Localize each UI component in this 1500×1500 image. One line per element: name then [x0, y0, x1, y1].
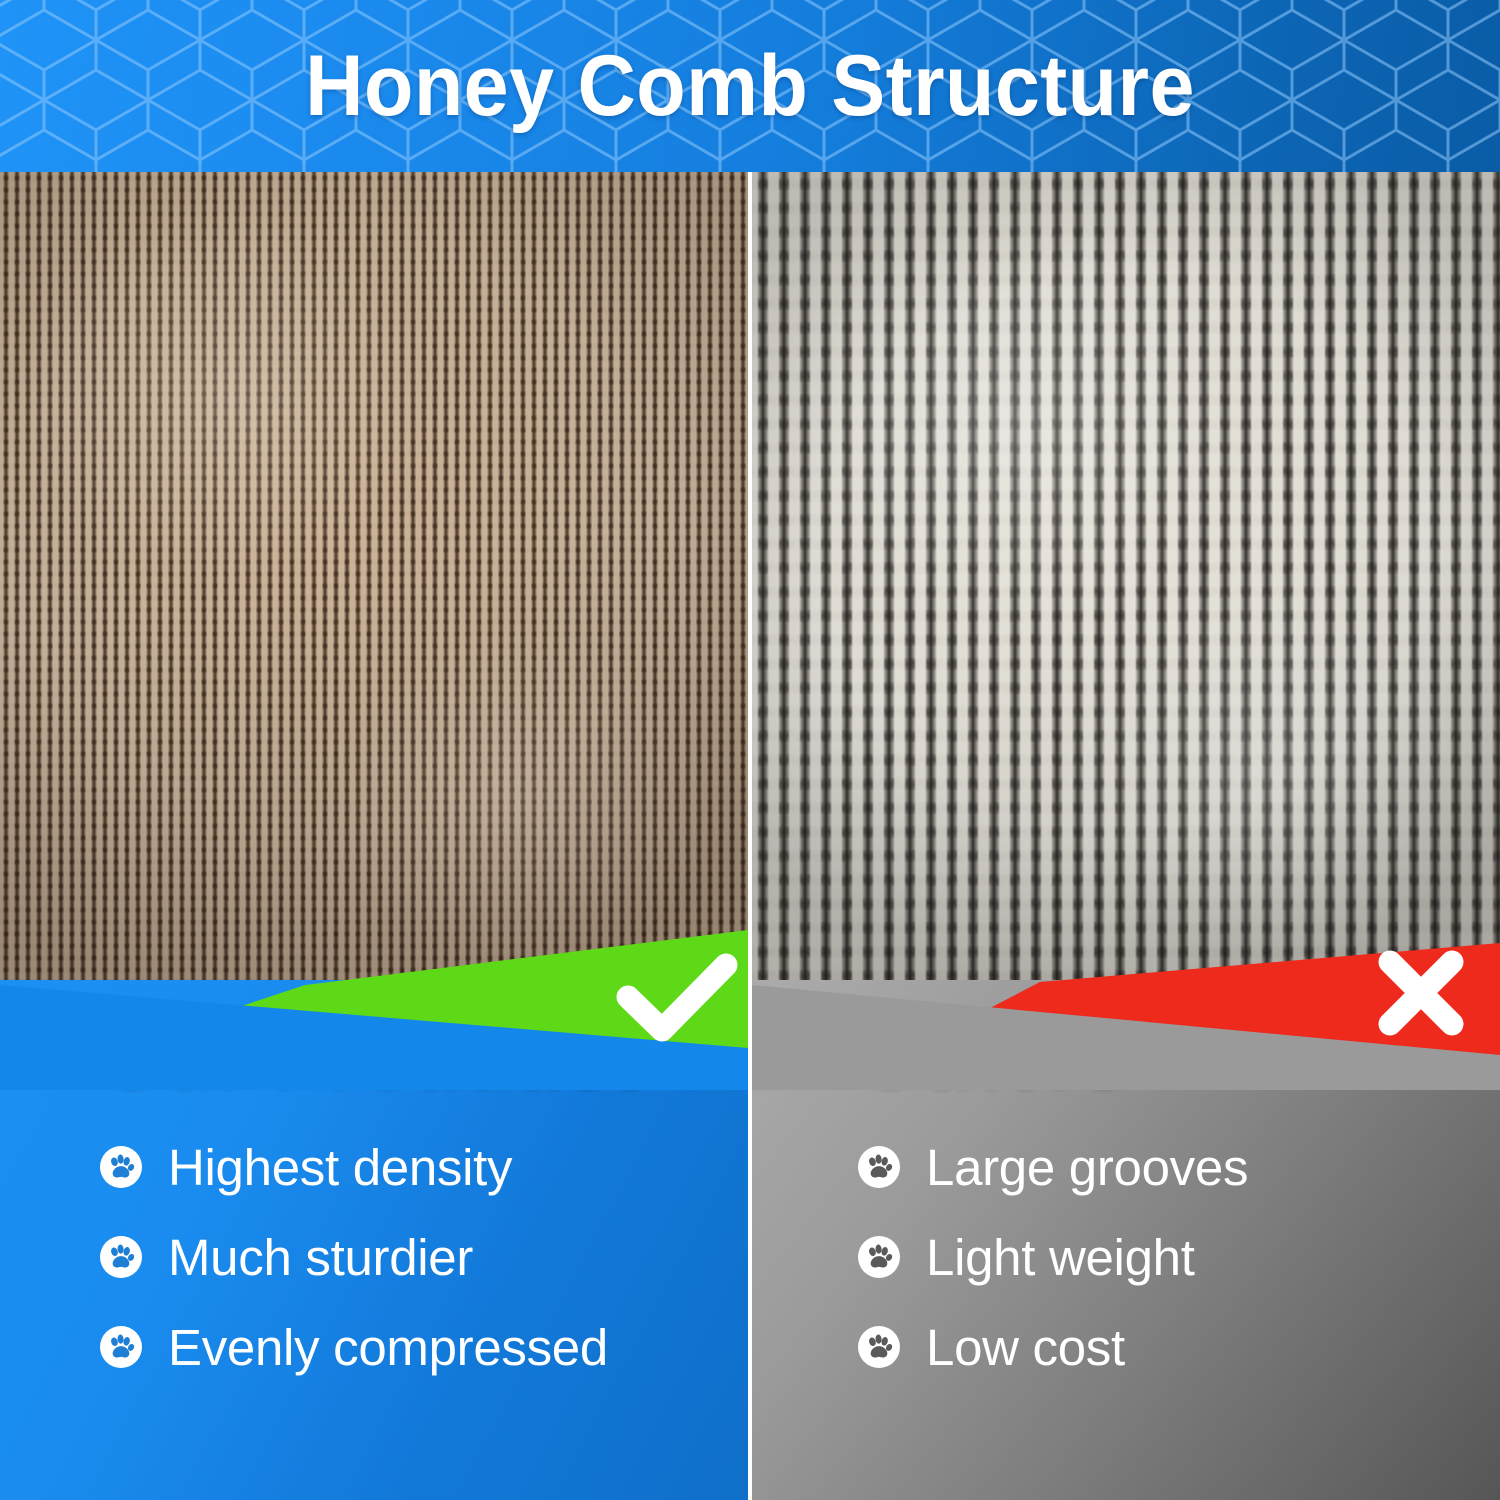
paw-print-icon [858, 1236, 900, 1278]
feature-label: Low cost [926, 1322, 1125, 1373]
feature-label: Much sturdier [168, 1232, 473, 1283]
others-title: Others [858, 1014, 1127, 1102]
feature-label: Light weight [926, 1232, 1195, 1283]
vertical-divider [748, 172, 752, 1072]
header-banner: Honey Comb Structure [0, 0, 1500, 172]
our-product-title: Our Prouduct [100, 1014, 639, 1102]
paw-print-icon [100, 1236, 142, 1278]
others-photo [752, 172, 1500, 1072]
feature-label: Large grooves [926, 1142, 1248, 1193]
list-item: Low cost [858, 1314, 1248, 1380]
list-item: Light weight [858, 1224, 1248, 1290]
list-item: Much sturdier [100, 1224, 608, 1290]
feature-label: Evenly compressed [168, 1322, 608, 1373]
list-item: Evenly compressed [100, 1314, 608, 1380]
others-feature-list: Large grooves Light weight [858, 1134, 1248, 1380]
our-product-photo [0, 172, 748, 1072]
paw-print-icon [100, 1326, 142, 1368]
list-item: Large grooves [858, 1134, 1248, 1200]
page-title: Honey Comb Structure [45, 0, 1455, 172]
paw-print-icon [858, 1146, 900, 1188]
feature-label: Highest density [168, 1142, 512, 1193]
our-product-feature-list: Highest density Much sturdier [100, 1134, 608, 1380]
list-item: Highest density [100, 1134, 608, 1200]
paw-print-icon [858, 1326, 900, 1368]
others-panel: Others Large grooves [752, 980, 1500, 1500]
our-product-panel: Our Prouduct Highest density [0, 980, 748, 1500]
comparison-infographic: Honey Comb Structure Our Prouduct [0, 0, 1500, 1500]
paw-print-icon [100, 1146, 142, 1188]
